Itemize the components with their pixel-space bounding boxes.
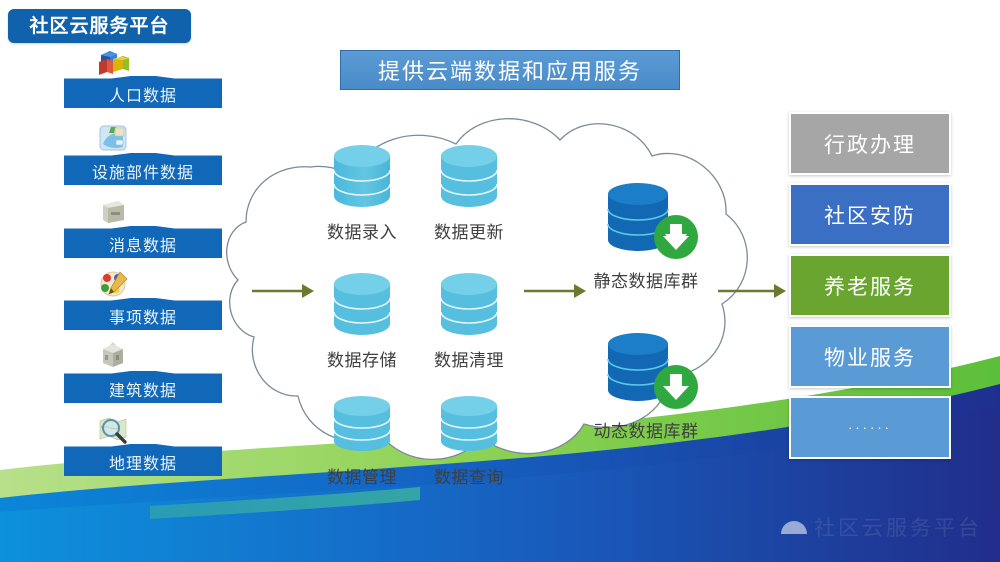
sidebar-box-message[interactable]: 消息数据 [64,226,222,258]
sidebar-box-affairs[interactable]: 事项数据 [64,298,222,330]
sidebar-label: 消息数据 [109,229,177,256]
sidebar-label: 事项数据 [109,301,177,328]
palette-pencil-icon [92,266,134,300]
service-label: 养老服务 [824,271,916,301]
cylinder-icon [433,393,505,455]
service-item-administrative[interactable]: 行政办理 [789,112,951,175]
process-label: 数据录入 [302,218,422,243]
sidebar-label: 人口数据 [109,79,177,106]
database-cluster-icon [586,328,706,410]
cubes-icon [92,44,134,78]
sidebar-box-geographic[interactable]: 地理数据 [64,444,222,476]
cloud-banner: 提供云端数据和应用服务 [340,50,680,90]
service-label: 物业服务 [824,342,916,372]
cylinder-icon [326,270,398,338]
service-item-property[interactable]: 物业服务 [789,325,951,388]
sidebar-box-population[interactable]: 人口数据 [64,76,222,108]
watermark: 社区云服务平台 [781,512,982,542]
page-title-banner: 社区云服务平台 [8,9,191,43]
facility-card-icon [92,121,134,155]
process-label: 数据存储 [302,346,422,371]
process-node-data-update[interactable]: 数据更新 [409,142,529,243]
process-label: 数据更新 [409,218,529,243]
database-label: 动态数据库群 [566,417,726,442]
cloud-banner-text: 提供云端数据和应用服务 [378,54,642,86]
process-node-data-entry[interactable]: 数据录入 [302,142,422,243]
database-node-dynamic[interactable]: 动态数据库群 [566,328,726,442]
process-node-data-cleaning[interactable]: 数据清理 [409,270,529,371]
process-label: 数据清理 [409,346,529,371]
cylinder-icon [433,270,505,338]
sidebar-label: 建筑数据 [109,374,177,401]
process-label: 数据管理 [302,463,422,488]
mailbox-icon [92,194,134,228]
page-title: 社区云服务平台 [29,17,169,36]
data-source-list: 人口数据 设施部件数据 [0,44,230,514]
service-label: 行政办理 [824,129,916,159]
cylinder-icon [326,142,398,210]
arrow-cloud-to-services [718,281,786,301]
process-label: 数据查询 [409,463,529,488]
service-label: 社区安防 [824,200,916,230]
arrow-process-to-database [524,281,586,301]
database-label: 静态数据库群 [566,267,726,292]
service-item-security[interactable]: 社区安防 [789,183,951,246]
sidebar-label: 设施部件数据 [92,156,194,183]
service-list: 行政办理 社区安防 养老服务 物业服务 ······ [789,112,951,467]
service-item-more[interactable]: ······ [789,396,951,459]
building-icon [92,339,134,373]
database-cluster-icon [586,178,706,260]
service-item-elderly-care[interactable]: 养老服务 [789,254,951,317]
map-magnifier-icon [92,412,134,446]
process-node-data-query[interactable]: 数据查询 [409,393,529,488]
watermark-logo-icon [781,521,807,534]
sidebar-box-facility[interactable]: 设施部件数据 [64,153,222,185]
sidebar-box-building[interactable]: 建筑数据 [64,371,222,403]
process-node-data-management[interactable]: 数据管理 [302,393,422,488]
cylinder-icon [326,393,398,455]
database-node-static[interactable]: 静态数据库群 [566,178,726,292]
slide-canvas: 社区云服务平台 人口数据 [0,0,1000,562]
sidebar-label: 地理数据 [109,447,177,474]
watermark-text: 社区云服务平台 [814,512,982,542]
cylinder-icon [433,142,505,210]
service-label: ······ [848,420,892,435]
process-node-data-storage[interactable]: 数据存储 [302,270,422,371]
arrow-sidebar-to-cloud [252,281,314,301]
